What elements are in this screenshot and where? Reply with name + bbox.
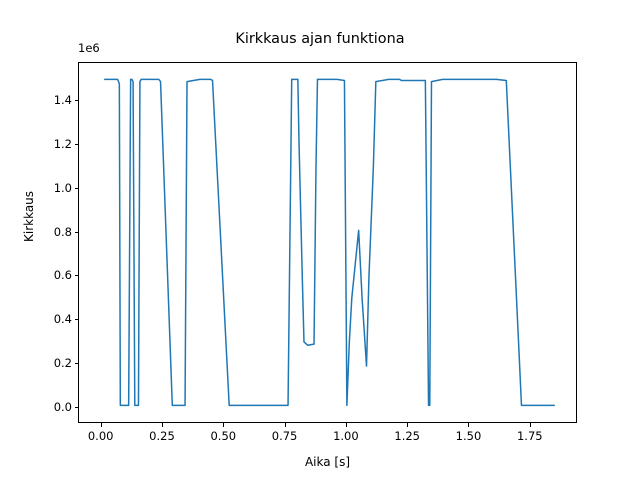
x-tick-label: 1.50 <box>438 429 498 443</box>
x-tick-label: 1.25 <box>377 429 437 443</box>
x-tick-label: 1.00 <box>316 429 376 443</box>
x-tick-label: 0.75 <box>255 429 315 443</box>
x-tick-label: 0.50 <box>193 429 253 443</box>
y-axis-label: Kirkkaus <box>22 191 36 242</box>
x-tick-label: 1.75 <box>500 429 560 443</box>
x-axis-label: Aika [s] <box>78 455 577 469</box>
x-tick-label: 0.00 <box>71 429 131 443</box>
figure: Kirkkaus ajan funktiona 1e6 0.00.20.40.6… <box>0 0 640 480</box>
x-tick-label: 0.25 <box>132 429 192 443</box>
x-tick-labels: 0.000.250.500.751.001.251.501.75 <box>0 0 640 480</box>
